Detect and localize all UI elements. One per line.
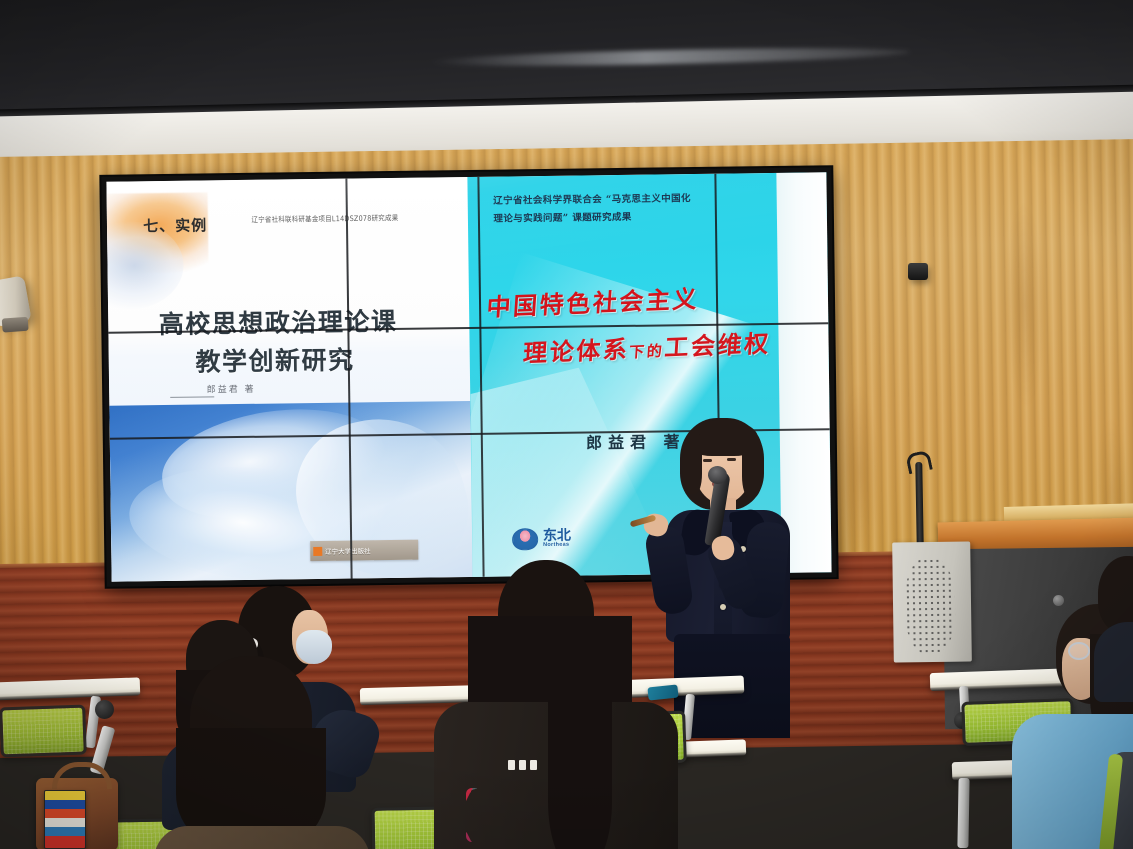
cover-right-publisher-en: Northeas: [543, 543, 571, 549]
chair-left-back[interactable]: [0, 705, 87, 758]
cover-right-title-line2-tail: 工会维权: [664, 329, 772, 362]
cover-left-grant-note: 辽宁省社科联科研基金项目L14DSZ078研究成果: [251, 211, 398, 224]
cover-left-rule: [171, 396, 214, 398]
slide-section-label: 七、实例: [143, 214, 207, 236]
wall-sensor-icon: [908, 263, 928, 280]
podium-loudspeaker: [892, 541, 972, 662]
lecture-hall-photo: 七、实例 辽宁省社科联科研基金项目L14DSZ078研究成果 高校思想政治理论课…: [0, 0, 1133, 849]
student-torso: [1094, 622, 1133, 702]
presenter-hair-right: [742, 432, 764, 498]
cover-right-header-line2: 理论与实践问题” 课题研究成果: [493, 206, 816, 228]
student-foreground-left: [146, 656, 366, 849]
hoodie-logo-icon: [508, 760, 537, 770]
cover-right-title-line2-small: 下的: [629, 342, 665, 361]
book-stack: [44, 790, 86, 849]
presenter-eye-right: [727, 458, 736, 461]
cover-left-publisher-name: 辽宁大学出版社: [325, 545, 371, 556]
student-hoodie-center: [430, 560, 680, 849]
mic-stand: [915, 462, 923, 546]
speaker-grille-icon: [904, 558, 955, 655]
student-far-right-edge: [1098, 556, 1133, 686]
publisher-mark-icon: [313, 546, 322, 555]
cover-left-title-line1: 高校思想政治理论课: [159, 302, 398, 341]
cover-right-publisher-logo: 东北 Northeas: [512, 528, 571, 551]
cover-left-publisher-bar: 辽宁大学出版社: [310, 540, 419, 561]
book-cover-left: 七、实例 辽宁省社科联科研基金项目L14DSZ078研究成果 高校思想政治理论课…: [106, 177, 473, 582]
presenter-button-4: [720, 604, 726, 610]
presenter-eye-left: [703, 459, 712, 462]
student-hair-strand: [548, 700, 612, 849]
glasses-icon: [1068, 642, 1090, 660]
presenter-hair-left: [682, 434, 702, 494]
desk-leg: [957, 778, 969, 848]
student-coat: [154, 826, 370, 849]
cover-left-title-line2: 教学创新研究: [195, 340, 354, 378]
cover-right-title-line2-main: 理论体系: [523, 334, 631, 367]
cover-right-header: 辽宁省社会科学界联合会 “马克思主义中国化 理论与实践问题” 课题研究成果: [493, 188, 816, 227]
desk-joint: [95, 700, 114, 719]
publisher-wave-icon: [512, 528, 538, 550]
cover-left-author: 郎益君 著: [207, 382, 256, 396]
